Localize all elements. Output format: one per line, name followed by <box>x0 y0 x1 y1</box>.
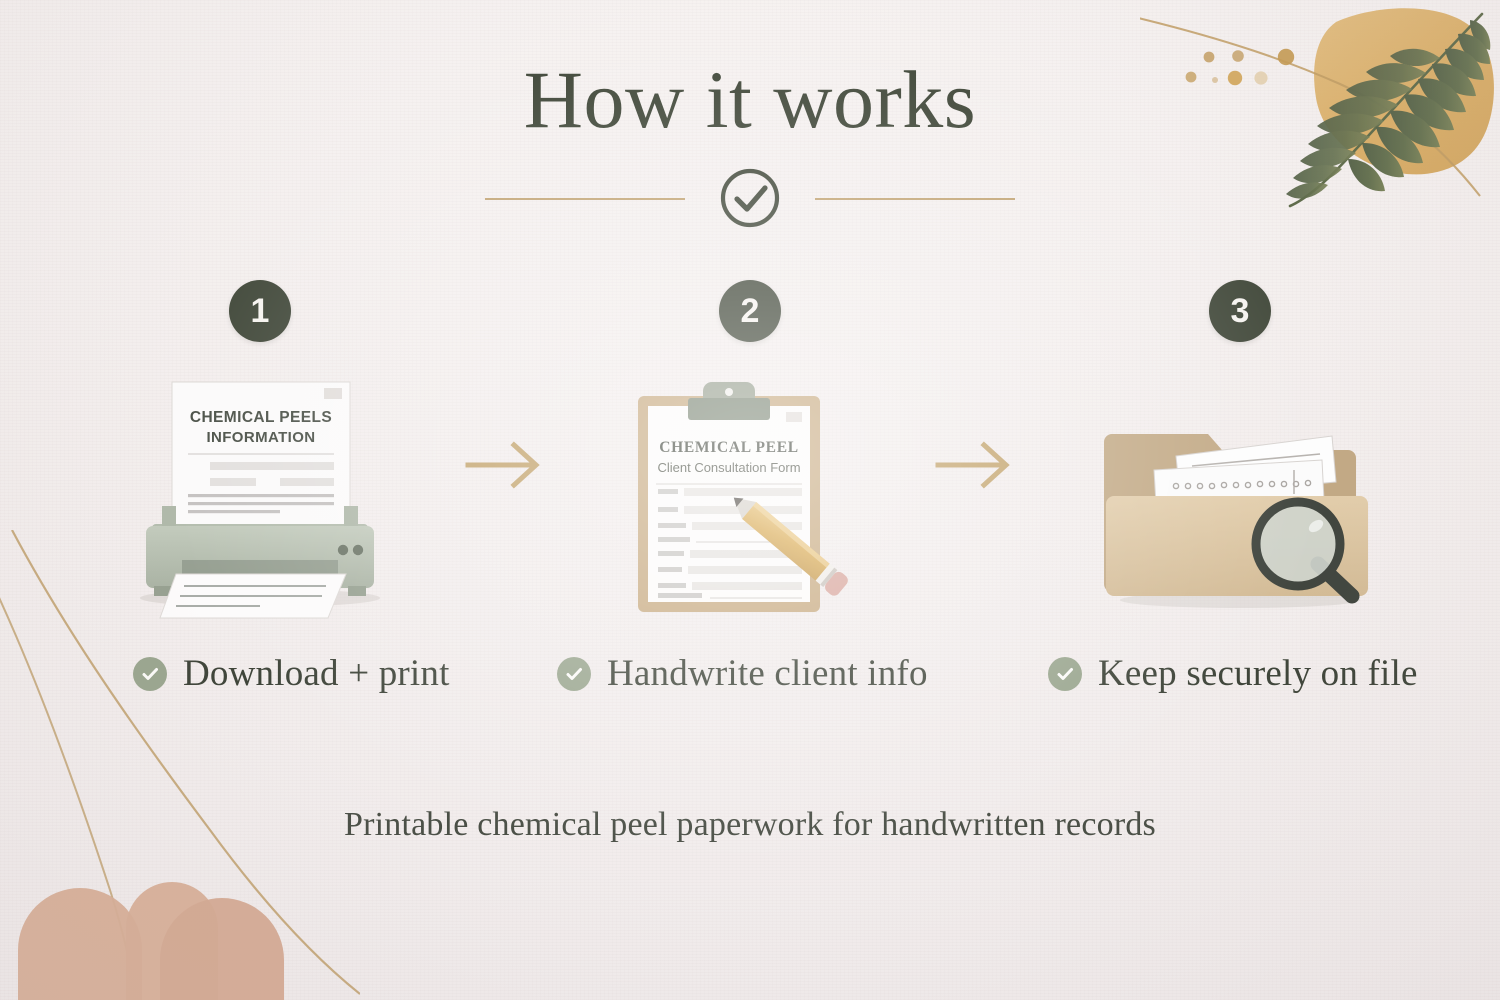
printer-light-2 <box>353 545 363 555</box>
step-1: 1 CHEMICAL PEELS INFORMAT <box>75 280 445 644</box>
captions-row: Download + print Handwrite client info K… <box>0 652 1500 712</box>
step-3: 3 <box>1055 280 1425 644</box>
form-title-line1: CHEMICAL PEEL <box>659 439 799 456</box>
step-number-badge-2: 2 <box>719 280 781 342</box>
header: How it works <box>0 58 1500 228</box>
form-title-line2: Client Consultation Form <box>657 460 800 475</box>
check-circle-icon <box>1048 657 1082 691</box>
arrow-right-icon <box>932 440 1022 490</box>
check-circle-icon <box>723 171 777 225</box>
clipboard-icon: CHEMICAL PEEL Client Consultation Form <box>565 374 935 644</box>
clipboard-clip <box>688 382 770 420</box>
printer-light-1 <box>338 545 348 555</box>
caption-1: Download + print <box>133 652 450 695</box>
printer-post-left <box>162 506 176 528</box>
caption-label: Download + print <box>183 652 450 695</box>
printer-icon: CHEMICAL PEELS INFORMATION <box>75 374 445 644</box>
footer: Printable chemical peel paperwork for ha… <box>0 806 1500 844</box>
caption-label: Handwrite client info <box>607 652 928 695</box>
document-title-line1: CHEMICAL PEELS <box>190 409 332 426</box>
step-2: 2 <box>565 280 935 644</box>
caption-3: Keep securely on file <box>1048 652 1418 695</box>
folder-icon <box>1055 374 1425 644</box>
printer-post-right <box>344 506 358 528</box>
step-number-badge-3: 3 <box>1209 280 1271 342</box>
page-title: How it works <box>0 58 1500 142</box>
arrow-right-icon <box>462 440 552 490</box>
caption-label: Keep securely on file <box>1098 652 1418 695</box>
divider <box>480 168 1020 228</box>
emerging-paper <box>160 574 346 618</box>
steps-row: 1 CHEMICAL PEELS INFORMAT <box>0 280 1500 700</box>
printed-document: CHEMICAL PEELS INFORMATION <box>172 382 350 534</box>
arch-shapes <box>18 882 284 1000</box>
step-number-badge-1: 1 <box>229 280 291 342</box>
form-corner-mark <box>786 412 802 422</box>
check-circle-icon <box>557 657 591 691</box>
footer-text: Printable chemical peel paperwork for ha… <box>0 806 1500 844</box>
poster-canvas: How it works 1 <box>0 0 1500 1000</box>
printer-foot-right <box>348 586 366 596</box>
document-title-line2: INFORMATION <box>206 429 315 446</box>
check-circle-icon <box>133 657 167 691</box>
caption-2: Handwrite client info <box>557 652 928 695</box>
